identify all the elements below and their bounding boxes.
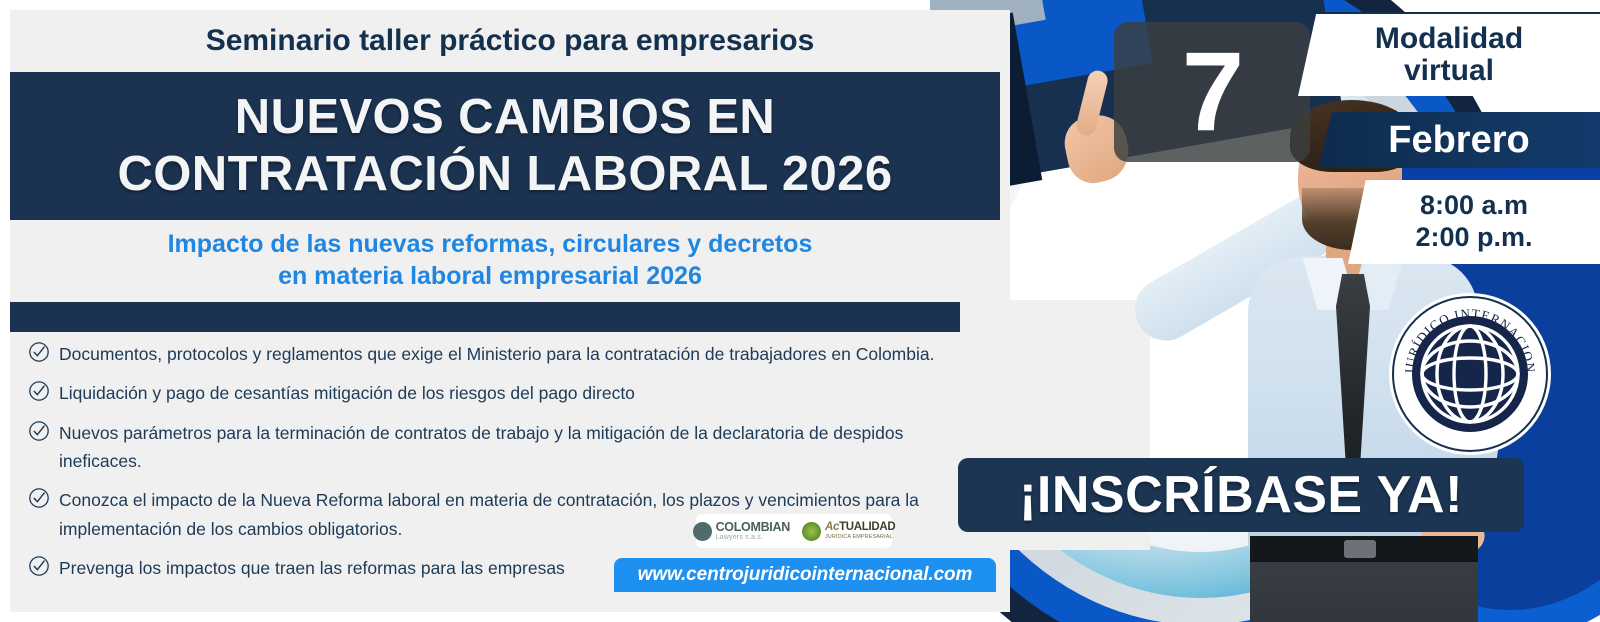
event-time-start: 8:00 a.m bbox=[1420, 190, 1528, 222]
list-item-label: Nuevos parámetros para la terminación de… bbox=[59, 419, 968, 476]
check-circle-icon bbox=[28, 555, 50, 577]
event-time-end: 2:00 p.m. bbox=[1415, 222, 1532, 254]
list-item-label: Documentos, protocolos y reglamentos que… bbox=[59, 340, 968, 368]
page-title: NUEVOS CAMBIOS EN CONTRATACIÓN LABORAL 2… bbox=[10, 72, 1000, 220]
subtitle-line-2: en materia laboral empresarial 2026 bbox=[278, 260, 702, 292]
event-day-number: 7 bbox=[1182, 36, 1242, 148]
sponsor-name: TUALIDAD bbox=[839, 521, 895, 533]
list-item: Documentos, protocolos y reglamentos que… bbox=[28, 340, 968, 368]
event-times: 8:00 a.m 2:00 p.m. bbox=[1348, 180, 1600, 264]
presenter-belt-buckle bbox=[1344, 540, 1376, 558]
company-seal: CENTRO JURÍDICO INTERNACIONAL S.A.S. bbox=[1392, 296, 1548, 452]
modality-line-2: virtual bbox=[1404, 55, 1494, 87]
svg-text:CENTRO JURÍDICO INTERNACIONAL: CENTRO JURÍDICO INTERNACIONAL S.A.S. bbox=[1394, 298, 1538, 374]
event-modality: Modalidad virtual bbox=[1298, 14, 1600, 96]
check-circle-icon bbox=[28, 380, 50, 402]
check-circle-icon bbox=[28, 420, 50, 442]
title-line-1: NUEVOS CAMBIOS EN bbox=[235, 89, 775, 146]
colombian-lawyers-icon bbox=[693, 522, 712, 541]
register-cta-label: ¡INSCRÍBASE YA! bbox=[1019, 465, 1463, 525]
page-kicker: Seminario taller práctico para empresari… bbox=[10, 10, 1010, 72]
sponsor-subtitle: JURÍDICA EMPRESARIAL bbox=[825, 535, 895, 541]
event-promo-banner: Seminario taller práctico para empresari… bbox=[0, 0, 1600, 622]
divider-band bbox=[10, 302, 960, 332]
list-item-label: Liquidación y pago de cesantías mitigaci… bbox=[59, 379, 968, 407]
sponsor-name-prefix: Ac bbox=[825, 521, 839, 533]
title-line-2: CONTRATACIÓN LABORAL 2026 bbox=[117, 146, 892, 203]
modality-line-1: Modalidad bbox=[1375, 23, 1523, 55]
check-circle-icon bbox=[28, 341, 50, 363]
sponsor-logos: COLOMBIAN Lawyers s.a.s. AcTUALIDAD JURÍ… bbox=[696, 514, 892, 548]
list-item: Nuevos parámetros para la terminación de… bbox=[28, 419, 968, 476]
benefits-list: Documentos, protocolos y reglamentos que… bbox=[28, 340, 968, 593]
seal-text: CENTRO JURÍDICO INTERNACIONAL S.A.S. bbox=[1394, 298, 1546, 450]
register-cta-button[interactable]: ¡INSCRÍBASE YA! bbox=[958, 458, 1524, 532]
list-item: Liquidación y pago de cesantías mitigaci… bbox=[28, 379, 968, 407]
sponsor-actualidad-juridica: AcTUALIDAD JURÍDICA EMPRESARIAL bbox=[802, 522, 895, 541]
sponsor-subtitle: Lawyers s.a.s. bbox=[716, 534, 790, 541]
sponsor-name: COLOMBIAN bbox=[716, 521, 790, 534]
actualidad-juridica-icon bbox=[802, 522, 821, 541]
check-circle-icon bbox=[28, 487, 50, 509]
website-url[interactable]: www.centrojuridicointernacional.com bbox=[614, 558, 996, 592]
event-day-badge: 7 bbox=[1114, 22, 1310, 162]
subtitle-line-1: Impacto de las nuevas reformas, circular… bbox=[168, 228, 813, 260]
page-subtitle: Impacto de las nuevas reformas, circular… bbox=[10, 222, 970, 298]
event-month: Febrero bbox=[1318, 112, 1600, 168]
sponsor-colombian-lawyers: COLOMBIAN Lawyers s.a.s. bbox=[693, 521, 790, 542]
event-month-accent bbox=[1402, 168, 1600, 182]
